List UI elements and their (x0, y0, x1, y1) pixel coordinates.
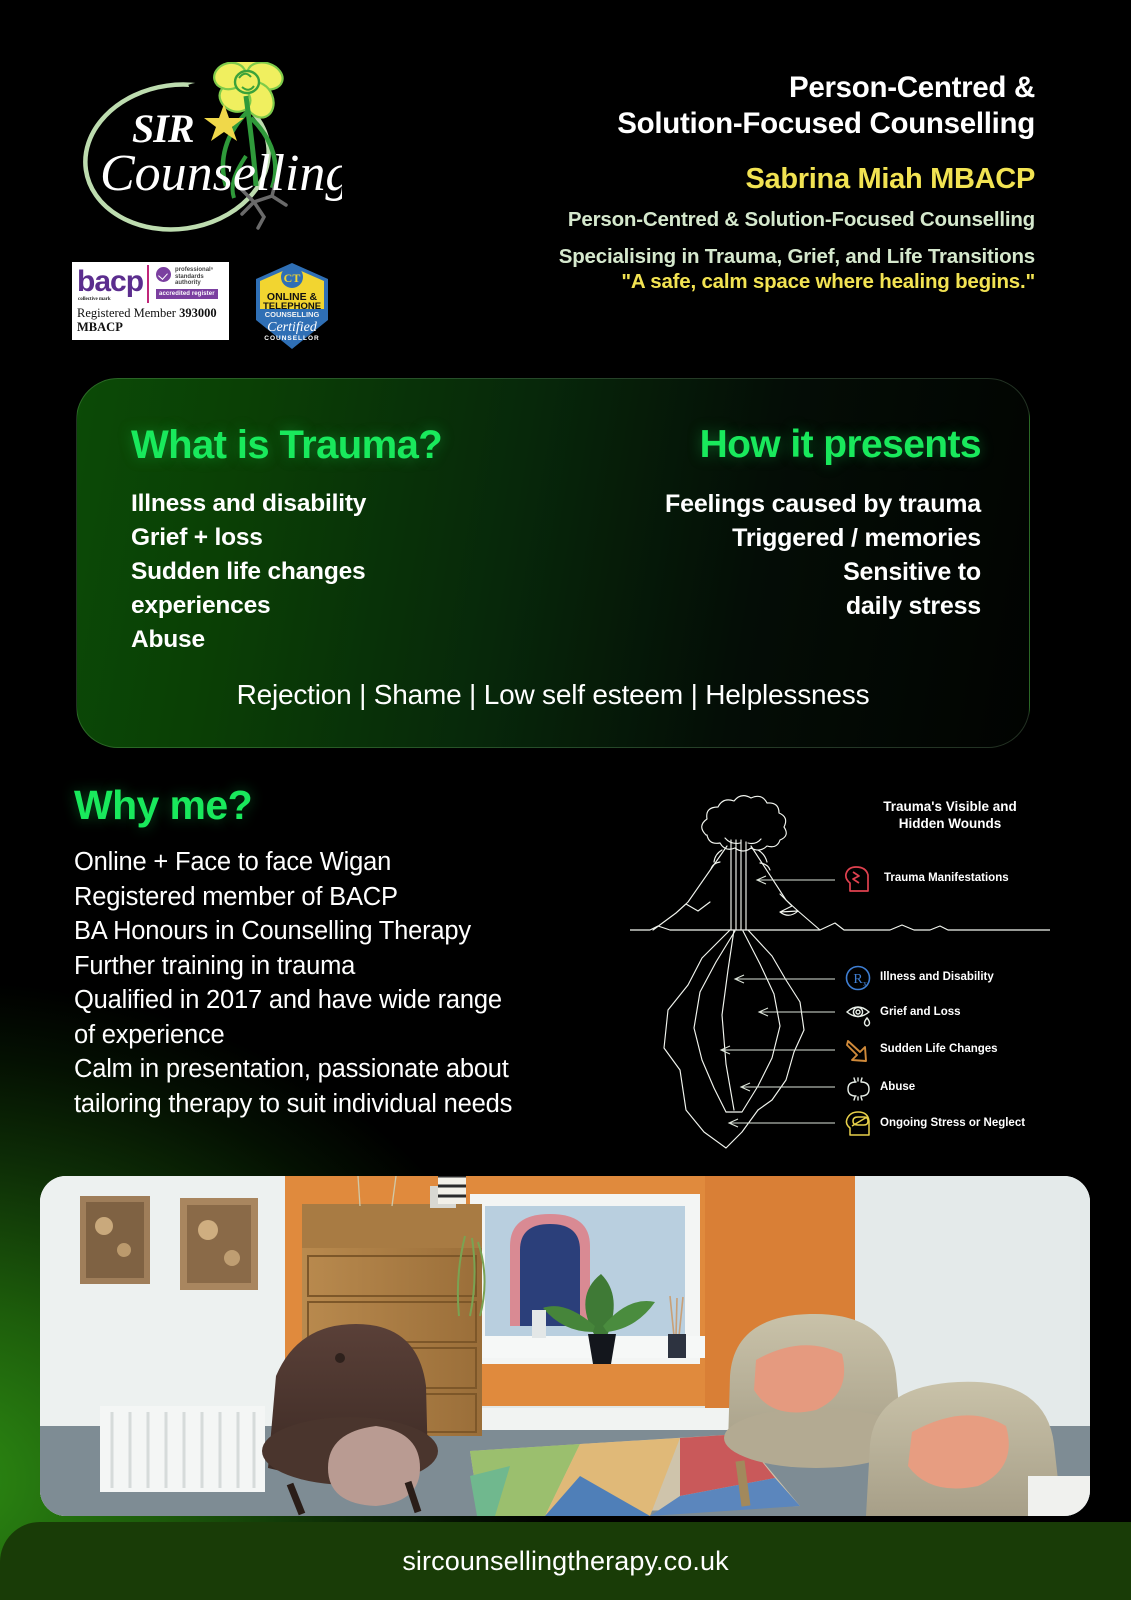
legend-label-illness-and-disability: Illness and Disability (880, 971, 994, 983)
legend-label-abuse: Abuse (880, 1081, 915, 1093)
bacp-registered-number: 393000 (179, 306, 217, 320)
why-me-heading: Why me? (74, 782, 634, 828)
poster-root: SIR Counselling bacp collective mark (0, 0, 1131, 1600)
list-item: Triggered / memories (641, 521, 981, 555)
sir-counselling-logo-icon: SIR Counselling (72, 62, 342, 252)
online-telephone-counselling-badge: CT ONLINE & TELEPHONE COUNSELLING Certif… (253, 262, 331, 350)
bacp-badge: bacp collective mark professionalⁿ stand… (72, 262, 229, 340)
psa-check-icon (156, 267, 171, 282)
volcano-iceberg-illustration: R x (630, 780, 1050, 1160)
header-subtitle-line-2: Specialising in Trauma, Grief, and Life … (415, 244, 1035, 270)
psa-line-1: professionalⁿ (175, 267, 213, 274)
how-it-presents-list: Feelings caused by trauma Triggered / me… (641, 487, 981, 623)
list-item: Calm in presentation, passionate about (74, 1052, 634, 1087)
how-it-presents-column: How it presents Feelings caused by traum… (641, 423, 989, 657)
svg-text:R: R (853, 972, 863, 987)
what-is-trauma-column: What is Trauma? Illness and disability G… (131, 423, 611, 657)
prescription-rx-icon: R x (847, 967, 870, 990)
header-subtitle-line-1: Person-Centred & Solution-Focused Counse… (415, 207, 1035, 233)
otc-line-4: COUNSELLOR (264, 335, 320, 342)
psa-line-3: authority (175, 280, 213, 287)
header-title-line-2: Solution-Focused Counselling (415, 106, 1035, 142)
list-item: experiences (131, 589, 611, 623)
list-item: Further training in trauma (74, 949, 634, 984)
room-illustration (40, 1176, 1090, 1516)
why-me-section: Why me? Online + Face to face Wigan Regi… (74, 782, 634, 1121)
down-right-arrow-icon (847, 1041, 866, 1061)
list-item: Sudden life changes (131, 555, 611, 589)
how-it-presents-heading: How it presents (641, 423, 981, 467)
counselling-room-photo (40, 1176, 1090, 1516)
crying-eye-icon (847, 1007, 870, 1026)
list-item: daily stress (641, 589, 981, 623)
poster-footer: sircounsellingtherapy.co.uk (0, 1522, 1131, 1600)
what-is-trauma-heading: What is Trauma? (131, 423, 611, 467)
otc-badge-icon: CT ONLINE & TELEPHONE COUNSELLING Certif… (253, 262, 331, 350)
list-item: Qualified in 2017 and have wide range (74, 983, 634, 1018)
logo-counselling-text: Counselling (100, 145, 342, 202)
legend-label-grief-and-loss: Grief and Loss (880, 1006, 961, 1018)
head-cloud-icon (846, 1112, 869, 1135)
legend-label-ongoing-stress-or-neglect: Ongoing Stress or Neglect (880, 1117, 1025, 1129)
list-item: Illness and disability (131, 487, 611, 521)
poster-header: SIR Counselling bacp collective mark (0, 0, 1131, 370)
list-item: of experience (74, 1018, 634, 1053)
bacp-registered-label: Registered Member (77, 306, 176, 320)
bacp-divider (147, 265, 149, 303)
practitioner-name: Sabrina Miah MBACP (415, 162, 1035, 196)
list-item: Abuse (131, 623, 611, 657)
accreditation-badges: bacp collective mark professionalⁿ stand… (72, 262, 331, 350)
list-item: BA Honours in Counselling Therapy (74, 914, 634, 949)
trauma-feelings-line: Rejection | Shame | Low self esteem | He… (77, 679, 1029, 711)
brand-logo: SIR Counselling (72, 62, 342, 247)
otc-line-3: COUNSELLING (265, 310, 320, 319)
header-tagline-quote: "A safe, calm space where healing begins… (415, 269, 1035, 295)
list-item: Online + Face to face Wigan (74, 845, 634, 880)
psa-accredited-register: accredited register (156, 289, 218, 299)
bacp-registered-line: Registered Member 393000 (72, 306, 229, 320)
broken-impact-icon (848, 1078, 869, 1100)
list-item: Grief + loss (131, 521, 611, 555)
list-item: Sensitive to (641, 555, 981, 589)
legend-label-trauma-manifestations: Trauma Manifestations (884, 872, 1009, 884)
bacp-wordmark: bacp (72, 262, 143, 297)
psa-line-2: standards (175, 274, 213, 281)
otc-script: Certified (267, 320, 318, 335)
bacp-mbacp-label: MBACP (72, 320, 229, 334)
header-text-block: Person-Centred & Solution-Focused Counse… (415, 70, 1035, 295)
list-item: Feelings caused by trauma (641, 487, 981, 521)
trauma-info-card: What is Trauma? Illness and disability G… (76, 378, 1030, 748)
trauma-iceberg-diagram: Trauma's Visible and Hidden Wounds (630, 780, 1050, 1160)
svg-text:x: x (863, 979, 867, 988)
what-is-trauma-list: Illness and disability Grief + loss Sudd… (131, 487, 611, 657)
psa-block: professionalⁿ standards authority accred… (156, 262, 218, 306)
head-profile-icon (846, 867, 868, 891)
list-item: Registered member of BACP (74, 880, 634, 915)
website-url[interactable]: sircounsellingtherapy.co.uk (402, 1546, 728, 1577)
header-title-line-1: Person-Centred & (415, 70, 1035, 106)
why-me-list: Online + Face to face Wigan Registered m… (74, 845, 634, 1121)
otc-monogram: CT (284, 271, 301, 285)
legend-label-sudden-life-changes: Sudden Life Changes (880, 1043, 998, 1055)
list-item: tailoring therapy to suit individual nee… (74, 1087, 634, 1122)
